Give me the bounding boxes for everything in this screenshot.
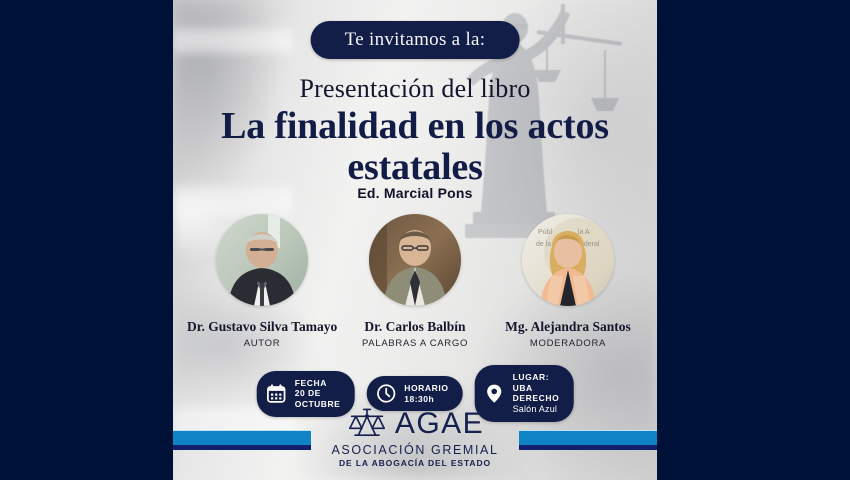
band-blue-stripe — [519, 430, 657, 445]
footer-band-left — [173, 430, 311, 450]
agae-logo: AGAE ASOCIACIÓN GREMIAL DE LA ABOGACÍA D… — [300, 406, 530, 468]
band-blue-stripe — [173, 430, 311, 445]
book-title: La finalidad en los actos estatales — [183, 106, 647, 188]
pill-label: HORARIO — [404, 383, 448, 394]
speaker-role: AUTOR — [187, 338, 337, 349]
speaker-name: Dr. Carlos Balbín — [340, 319, 490, 335]
pretitle: Presentación del libro — [173, 74, 657, 104]
band-navy-stripe — [519, 445, 657, 450]
svg-text:Públ: Públ — [538, 229, 552, 236]
band-navy-stripe — [173, 445, 311, 450]
invitation-badge: Te invitamos a la: — [311, 21, 520, 59]
speaker-name: Mg. Alejandra Santos — [493, 319, 643, 335]
svg-text:la A: la A — [578, 229, 590, 236]
portrait-man-glasses — [369, 214, 461, 306]
editorial-label: Ed. Marcial Pons — [173, 185, 657, 201]
speaker-card: Dr. Carlos Balbín PALABRAS A CARGO — [340, 214, 490, 349]
pill-label: LUGAR: UBA DERECHO — [513, 372, 560, 404]
speaker-role: MODERADORA — [493, 338, 643, 349]
speaker-card: Públ la A de la C ederal M — [493, 214, 643, 349]
clock-icon — [375, 383, 396, 404]
portrait-man-microphone — [216, 214, 308, 306]
event-poster: Te invitamos a la: Presentación del libr… — [173, 0, 657, 480]
pill-value: 18:30h — [404, 394, 448, 405]
calendar-icon — [266, 383, 287, 404]
location-pin-icon — [484, 383, 505, 404]
pill-label: FECHA — [295, 378, 341, 389]
footer-band-right — [519, 430, 657, 450]
speaker-card: Dr. Gustavo Silva Tamayo AUTOR — [187, 214, 337, 349]
speakers-row: Dr. Gustavo Silva Tamayo AUTOR — [187, 214, 643, 349]
speaker-role: PALABRAS A CARGO — [340, 338, 490, 349]
screenshot-canvas: Te invitamos a la: Presentación del libr… — [0, 0, 850, 480]
speaker-name: Dr. Gustavo Silva Tamayo — [187, 319, 337, 335]
logo-wordmark: AGAE — [395, 409, 484, 439]
logo-line-1: ASOCIACIÓN GREMIAL — [300, 443, 530, 457]
scales-of-justice-icon — [346, 406, 388, 442]
portrait-woman-blonde: Públ la A de la C ederal — [522, 214, 614, 306]
logo-line-2: DE LA ABOGACÍA DEL ESTADO — [300, 458, 530, 468]
